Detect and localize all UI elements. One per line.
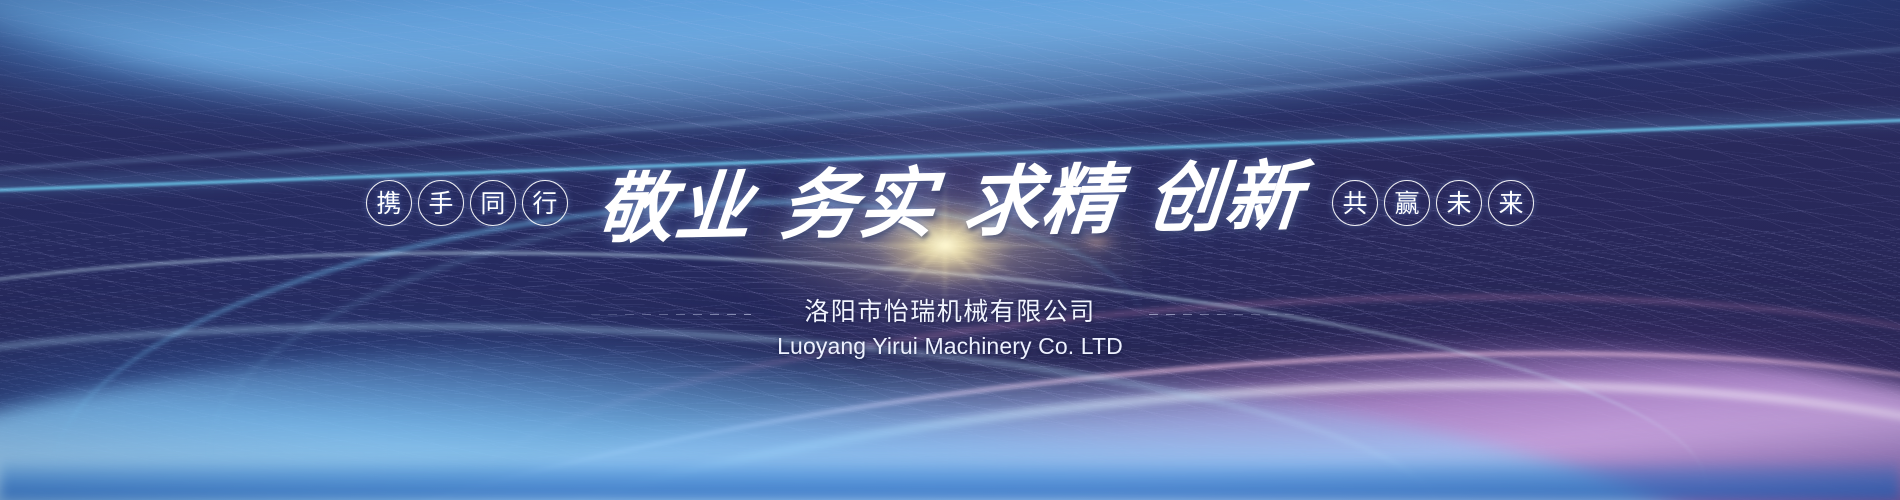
circled-char-shou: 手 [418,180,464,226]
circled-char-ying: 赢 [1384,180,1430,226]
company-name-cn: 洛阳市怡瑞机械有限公司 [777,296,1123,327]
slogan-row: 携 手 同 行 敬业 务实 求精 创新 共 赢 未 来 [0,148,1900,258]
company-name-en: Luoyang Yirui Machinery Co. LTD [777,330,1123,362]
banner-content: 携 手 同 行 敬业 务实 求精 创新 共 赢 未 来 洛阳市怡瑞机械有限公司 … [0,0,1900,500]
dashed-rule-right [1149,314,1309,315]
circled-char-xie: 携 [366,180,412,226]
circled-char-xing: 行 [522,180,568,226]
circled-char-lai: 来 [1488,180,1534,226]
circled-char-wei: 未 [1436,180,1482,226]
left-circle-group: 携 手 同 行 [366,180,568,226]
right-circle-group: 共 赢 未 来 [1332,180,1534,226]
hero-banner: 携 手 同 行 敬业 务实 求精 创新 共 赢 未 来 洛阳市怡瑞机械有限公司 … [0,0,1900,500]
circled-char-gong: 共 [1332,180,1378,226]
main-slogan-calligraphy: 敬业 务实 求精 创新 [578,159,1322,246]
company-name-block: 洛阳市怡瑞机械有限公司 Luoyang Yirui Machinery Co. … [777,296,1123,362]
circled-char-tong: 同 [470,180,516,226]
company-row: 洛阳市怡瑞机械有限公司 Luoyang Yirui Machinery Co. … [0,296,1900,362]
dashed-rule-left [591,314,751,315]
